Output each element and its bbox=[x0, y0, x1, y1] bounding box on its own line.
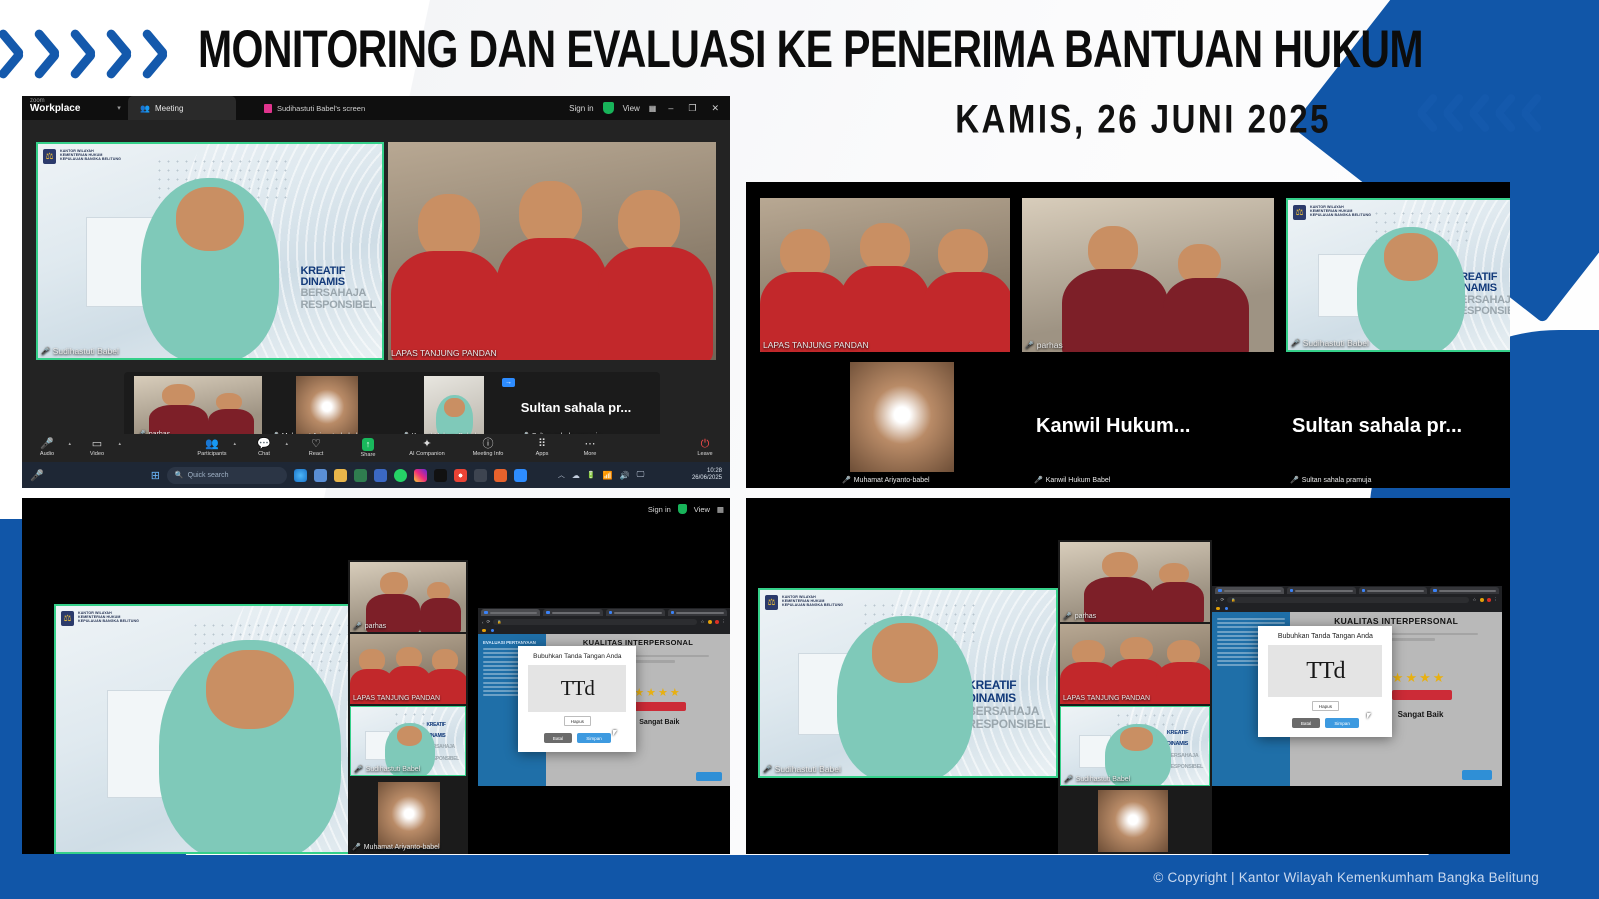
video-tile-lapas[interactable]: LAPAS TANJUNG PANDAN bbox=[760, 198, 1010, 352]
filmstrip-tile[interactable] bbox=[424, 376, 484, 440]
audio-button[interactable]: 🎤 Audio ▴ bbox=[32, 439, 62, 457]
chevron-left-icon bbox=[1407, 88, 1433, 138]
chat-bubble-icon: 💬 bbox=[257, 439, 271, 450]
lock-icon: 🔒 bbox=[497, 620, 501, 624]
chevron-left-icon bbox=[1485, 88, 1511, 138]
chat-button[interactable]: 💬 Chat ▴ bbox=[249, 439, 279, 457]
taskbar-search[interactable]: 🔍 Quick search bbox=[167, 467, 287, 484]
browser-tab[interactable] bbox=[606, 609, 665, 616]
bookmark-item[interactable] bbox=[491, 629, 495, 633]
browser-tab[interactable] bbox=[1287, 587, 1356, 594]
rating-stars[interactable]: ★ ★ ★ ★ bbox=[1392, 670, 1445, 686]
more-arrow-badge[interactable]: → bbox=[502, 378, 515, 387]
browser-bookmarks-bar bbox=[478, 627, 730, 634]
page-header: MONITORING DAN EVALUASI KE PENERIMA BANT… bbox=[0, 0, 1599, 160]
microphone-icon: 🎤 bbox=[41, 347, 50, 355]
filmstrip-tile[interactable]: LAPAS TANJUNG PANDAN bbox=[350, 634, 466, 704]
chevron-left-icon bbox=[1433, 88, 1459, 138]
video-tile-parhas[interactable]: 🎤 parhas bbox=[1022, 198, 1274, 352]
zoom-video-stage: ⚖ KANTOR WILAYAH KEMENTERIAN HUKUM KEPUL… bbox=[22, 120, 730, 434]
url-field[interactable]: 🔒 bbox=[1227, 597, 1469, 604]
video-label: 🎤 parhas bbox=[353, 622, 386, 630]
star-icon[interactable]: ★ bbox=[1433, 670, 1445, 686]
chevron-left-icon bbox=[1459, 88, 1485, 138]
video-label: LAPAS TANJUNG PANDAN bbox=[353, 695, 440, 702]
participants-button[interactable]: 👥 Participants ▴ bbox=[197, 439, 227, 457]
rating-label: Sangat Baik bbox=[639, 719, 679, 726]
chevron-up-icon[interactable]: ▴ bbox=[233, 441, 236, 447]
favicon-icon bbox=[1362, 589, 1366, 593]
page-subtitle: KAMIS, 26 JUNI 2025 bbox=[955, 96, 1331, 142]
react-button[interactable]: ♡ React bbox=[301, 439, 331, 457]
profile-icon[interactable] bbox=[708, 620, 712, 624]
camera-icon: ▭ bbox=[92, 439, 102, 450]
app-icon[interactable] bbox=[494, 469, 507, 482]
video-label: 🎤 Sudihastuti Babel bbox=[41, 346, 119, 356]
microphone-icon: 🎤 bbox=[1025, 341, 1034, 349]
instagram-icon[interactable] bbox=[414, 469, 427, 482]
excel-icon[interactable] bbox=[354, 469, 367, 482]
star-icon[interactable]: ★ bbox=[1419, 670, 1431, 686]
zoom-control-bar: 🎤 Audio ▴ ▭ Video ▴ 👥 Participants ▴ 💬 C… bbox=[22, 434, 730, 462]
browser-tab[interactable] bbox=[1430, 587, 1499, 594]
modal-title: Bubuhkan Tanda Tangan Anda bbox=[533, 653, 621, 660]
video-label: 🎤 Sudihastuti Babel bbox=[763, 764, 841, 774]
video-label: LAPAS TANJUNG PANDAN bbox=[391, 348, 497, 358]
browser-address-bar[interactable]: ‹ ⟳ 🔒 ☆ ⋮ bbox=[1212, 595, 1502, 605]
clear-signature-button[interactable]: Hapus bbox=[564, 716, 591, 726]
windows-start-icon[interactable]: ⊞ bbox=[151, 469, 160, 482]
crest-icon: ⚖ bbox=[765, 595, 778, 610]
microphone-icon: 🎤 bbox=[1063, 612, 1072, 620]
filmstrip: 🎤 parhas LAPAS TANJUNG PANDAN KREATIF DI… bbox=[1058, 540, 1212, 854]
signature-modal[interactable]: Bubuhkan Tanda Tangan Anda TTd Hapus Bat… bbox=[1258, 626, 1392, 737]
video-tile-ariyanto[interactable] bbox=[850, 362, 954, 472]
person-face bbox=[176, 187, 245, 251]
grid-icon[interactable]: ▦ bbox=[717, 505, 724, 514]
star-icon[interactable]: ★ bbox=[658, 686, 668, 699]
reload-icon[interactable]: ⟳ bbox=[1221, 597, 1225, 603]
video-tile-speaker[interactable]: ⚖ KANTOR WILAYAH KEMENTERIAN HUKUM KEPUL… bbox=[1286, 198, 1510, 352]
video-label: 🎤 Sudihastuti Babel bbox=[354, 765, 420, 773]
bookmark-item[interactable] bbox=[1225, 607, 1229, 611]
video-tile-speaker[interactable]: ⚖ KANTOR WILAYAH KEMENTERIAN HUKUM KEPUL… bbox=[758, 588, 1058, 778]
apps-button[interactable]: ⠿ Apps bbox=[527, 439, 557, 457]
browser-tab[interactable] bbox=[668, 609, 727, 616]
filmstrip-tile[interactable]: KREATIF DINAMIS BERSAHAJA RESPONSIBEL 🎤 … bbox=[350, 706, 466, 776]
favicon-icon bbox=[1433, 589, 1437, 593]
display-icon[interactable]: 🖵 bbox=[637, 470, 645, 480]
kanwil-logo: ⚖ KANTOR WILAYAH KEMENTERIAN HUKUM KEPUL… bbox=[765, 595, 843, 610]
chevron-right-icon bbox=[150, 22, 184, 86]
slogan-text: KREATIF DINAMIS BERSAHAJA RESPONSIBEL bbox=[300, 266, 376, 311]
copyright-text: © Copyright | Kantor Wilayah Kemenkumham… bbox=[1153, 870, 1539, 885]
chevron-right-group-icon bbox=[6, 22, 184, 86]
page-heading: KUALITAS INTERPERSONAL bbox=[1290, 616, 1502, 626]
video-label: LAPAS TANJUNG PANDAN bbox=[1063, 695, 1150, 702]
ellipsis-icon: ⋯ bbox=[585, 439, 596, 450]
action-button-red[interactable] bbox=[1392, 690, 1452, 700]
page-title: MONITORING DAN EVALUASI KE PENERIMA BANT… bbox=[198, 22, 1458, 77]
url-field[interactable]: 🔒 bbox=[493, 619, 697, 626]
video-label: 🎤 parhas bbox=[1063, 612, 1096, 620]
bookmark-item[interactable] bbox=[1216, 607, 1220, 611]
share-screen-icon: ↑ bbox=[362, 438, 375, 451]
star-icon[interactable]: ☆ bbox=[1472, 597, 1476, 603]
whatsapp-icon[interactable] bbox=[394, 469, 407, 482]
video-label: 🎤 Sudihastuti Babel bbox=[1064, 775, 1130, 783]
profile-icon[interactable] bbox=[1480, 598, 1484, 602]
filmstrip-tile[interactable]: 🎤 parhas bbox=[134, 376, 262, 440]
shared-page: KUALITAS INTERPERSONAL ★ ★ ★ ★ Sangat Ba… bbox=[1212, 612, 1502, 786]
rating-label: Sangat Baik bbox=[1398, 710, 1444, 719]
view-button[interactable]: View bbox=[694, 505, 710, 514]
filmstrip-tile[interactable] bbox=[296, 376, 358, 440]
video-label: 🎤 Kanwil Hukum Babel bbox=[1034, 474, 1110, 486]
chevron-up-icon[interactable]: ▴ bbox=[118, 441, 121, 447]
bookmark-item[interactable] bbox=[482, 629, 486, 633]
signature-canvas[interactable]: TTd bbox=[528, 665, 626, 712]
browser-bookmarks-bar bbox=[1212, 605, 1502, 612]
file-explorer-icon[interactable] bbox=[314, 469, 327, 482]
video-label: 🎤 Muhamat Ariyanto-babel bbox=[352, 843, 440, 851]
favicon-icon bbox=[1218, 589, 1222, 593]
microphone-icon: 🎤 bbox=[40, 439, 54, 450]
filmstrip-tile[interactable] bbox=[1098, 790, 1168, 852]
submit-button[interactable] bbox=[1462, 770, 1492, 780]
star-icon[interactable]: ★ bbox=[1392, 670, 1404, 686]
chevron-left-icon bbox=[1511, 88, 1537, 138]
video-label: 🎤 Sudihastuti Babel bbox=[1291, 338, 1369, 348]
favicon-icon bbox=[546, 611, 550, 615]
chevron-up-icon[interactable]: ︿ bbox=[558, 470, 565, 480]
favicon-icon bbox=[671, 611, 675, 615]
video-label: 🎤 Muhamat Ariyanto-babel bbox=[842, 474, 930, 486]
extension-icon[interactable] bbox=[1487, 598, 1491, 602]
shared-browser-window[interactable]: ‹ ⟳ 🔒 ☆ ⋮ EVALUASI PERTANYAAN bbox=[478, 608, 730, 786]
filmstrip-tile[interactable]: 🎤 parhas bbox=[350, 562, 466, 632]
microphone-icon: 🎤 bbox=[1290, 476, 1299, 484]
crest-icon: ⚖ bbox=[1293, 205, 1306, 220]
volume-icon[interactable]: 🔊 bbox=[620, 471, 630, 480]
chevron-up-icon[interactable]: ▴ bbox=[285, 441, 288, 447]
favicon-icon bbox=[609, 611, 613, 615]
footer-bar: © Copyright | Kantor Wilayah Kemenkumham… bbox=[0, 855, 1599, 899]
filmstrip-tile[interactable]: KREATIF DINAMIS BERSAHAJA RESPONSIBEL 🎤 … bbox=[1060, 706, 1210, 786]
windows-taskbar: 🎤 ⊞ 🔍 Quick search ︿ ☁ 🔋 📶 🔊 🖵 10:28 26/… bbox=[22, 462, 730, 488]
lock-icon: 🔒 bbox=[1231, 598, 1235, 602]
filmstrip-tile[interactable] bbox=[378, 782, 440, 848]
meeting-info-button[interactable]: ⓘ Meeting Info bbox=[467, 439, 509, 457]
mouse-cursor-icon bbox=[613, 730, 620, 736]
microphone-icon: 🎤 bbox=[353, 622, 362, 630]
slogan-text: KREATIF DINAMIS BERSAHAJA RESPONSIBEL bbox=[1167, 726, 1203, 771]
video-button[interactable]: ▭ Video ▴ bbox=[82, 439, 112, 457]
heart-icon: ♡ bbox=[311, 439, 321, 450]
back-icon[interactable]: ‹ bbox=[482, 620, 484, 625]
browser-tab[interactable] bbox=[543, 609, 602, 616]
sign-in-link[interactable]: Sign in bbox=[648, 505, 671, 514]
cancel-button[interactable]: Batal bbox=[544, 733, 572, 743]
filmstrip-tile[interactable]: LAPAS TANJUNG PANDAN bbox=[1060, 624, 1210, 704]
cancel-button[interactable]: Batal bbox=[1292, 718, 1320, 728]
video-tile-lapas[interactable]: LAPAS TANJUNG PANDAN bbox=[388, 142, 716, 360]
filmstrip: 🎤 parhas LAPAS TANJUNG PANDAN KREATIF DI… bbox=[348, 560, 468, 854]
video-label: 🎤 Sultan sahala pramuja bbox=[1290, 474, 1371, 486]
battery-icon[interactable]: 🔋 bbox=[587, 471, 596, 479]
shared-page: EVALUASI PERTANYAAN KUALITAS INTERPERSON… bbox=[478, 634, 730, 786]
favicon-icon bbox=[1290, 589, 1294, 593]
exit-icon: ⏻ bbox=[701, 439, 710, 450]
settings-icon[interactable] bbox=[474, 469, 487, 482]
modal-title: Bubuhkan Tanda Tangan Anda bbox=[1278, 633, 1373, 640]
zoom-taskbar-icon[interactable]: 🎤 bbox=[30, 469, 44, 482]
browser-tab[interactable] bbox=[1215, 587, 1284, 594]
microphone-icon: 🎤 bbox=[1064, 775, 1073, 783]
star-icon[interactable]: ★ bbox=[670, 686, 680, 699]
clear-signature-button[interactable]: Hapus bbox=[1312, 701, 1339, 711]
video-label: 🎤 parhas bbox=[1025, 340, 1063, 350]
sidebar-title: EVALUASI PERTANYAAN bbox=[483, 640, 541, 645]
microphone-icon: 🎤 bbox=[354, 765, 363, 773]
info-icon: ⓘ bbox=[483, 439, 494, 450]
more-button[interactable]: ⋯ More bbox=[575, 439, 605, 457]
rating-stars[interactable]: ★ ★ ★ ★ bbox=[634, 686, 680, 699]
participant-name-placeholder: Sultan sahala pr... bbox=[1292, 378, 1510, 474]
menu-icon[interactable]: ⋮ bbox=[1494, 597, 1499, 603]
star-icon[interactable]: ☆ bbox=[700, 619, 704, 625]
tiktok-icon[interactable] bbox=[434, 469, 447, 482]
signature-modal[interactable]: Bubuhkan Tanda Tangan Anda TTd Hapus Bat… bbox=[518, 646, 636, 752]
taskbar-clock[interactable]: 10:28 26/06/2025 bbox=[692, 468, 722, 482]
browser-tab[interactable] bbox=[481, 609, 540, 616]
browser-address-bar[interactable]: ‹ ⟳ 🔒 ☆ ⋮ bbox=[478, 617, 730, 627]
browser-tab-strip bbox=[478, 608, 730, 617]
microphone-icon: 🎤 bbox=[1034, 476, 1043, 484]
star-icon[interactable]: ★ bbox=[1405, 670, 1417, 686]
chevron-up-icon[interactable]: ▴ bbox=[68, 441, 71, 447]
favicon-icon bbox=[484, 611, 488, 615]
participant-name-placeholder: Kanwil Hukum... bbox=[1036, 378, 1276, 474]
screenshot-screenshare-2: ⚖ KANTOR WILAYAH KEMENTERIAN HUKUM KEPUL… bbox=[746, 498, 1510, 854]
slogan-text: KREATIF DINAMIS BERSAHAJA RESPONSIBEL bbox=[967, 679, 1050, 732]
signature-canvas[interactable]: TTd bbox=[1268, 645, 1382, 697]
mouse-cursor-icon bbox=[1367, 713, 1374, 719]
star-icon[interactable]: ★ bbox=[646, 686, 656, 699]
save-button[interactable]: Simpan bbox=[1325, 718, 1359, 728]
browser-tab[interactable] bbox=[1359, 587, 1428, 594]
reload-icon[interactable]: ⟳ bbox=[487, 619, 491, 625]
back-icon[interactable]: ‹ bbox=[1216, 598, 1218, 603]
folder-icon[interactable] bbox=[334, 469, 347, 482]
kanwil-logo: ⚖ KANTOR WILAYAH KEMENTERIAN HUKUM KEPUL… bbox=[61, 611, 139, 626]
video-tile-speaker[interactable]: ⚖ KANTOR WILAYAH KEMENTERIAN HUKUM KEPUL… bbox=[36, 142, 384, 360]
word-icon[interactable] bbox=[374, 469, 387, 482]
submit-button[interactable] bbox=[696, 772, 722, 781]
leave-button[interactable]: ⏻ Leave bbox=[690, 439, 720, 457]
save-button[interactable]: Simpan bbox=[577, 733, 611, 743]
kanwil-logo: ⚖ KANTOR WILAYAH KEMENTERIAN HUKUM KEPUL… bbox=[1293, 205, 1371, 220]
chevron-left-group-icon bbox=[1407, 88, 1537, 138]
edge-icon[interactable] bbox=[294, 469, 307, 482]
screenshot-screenshare-1: Sign in View ▦ ⚖ KANTOR WILAYAH KEMENTER… bbox=[22, 498, 730, 854]
participant-name-placeholder: Sultan sahala pr... bbox=[500, 394, 652, 420]
microphone-icon: 🎤 bbox=[1291, 339, 1300, 347]
screenshot-zoom-gallery: LAPAS TANJUNG PANDAN 🎤 parhas ⚖ KANTOR W… bbox=[746, 182, 1510, 488]
extension-icon[interactable] bbox=[715, 620, 719, 624]
share-screen-button[interactable]: ↑ Share bbox=[353, 438, 383, 458]
wifi-icon[interactable]: 📶 bbox=[603, 471, 613, 480]
search-icon: 🔍 bbox=[175, 471, 184, 479]
cloud-icon[interactable]: ☁ bbox=[572, 471, 580, 480]
shield-icon bbox=[678, 504, 687, 514]
action-button-red[interactable] bbox=[634, 702, 686, 711]
filmstrip-tile[interactable]: 🎤 parhas bbox=[1060, 542, 1210, 622]
microphone-icon: 🎤 bbox=[352, 843, 361, 851]
apps-icon: ⠿ bbox=[538, 439, 546, 450]
sparkle-icon: ✦ bbox=[422, 439, 431, 450]
microphone-icon: 🎤 bbox=[842, 476, 851, 484]
chrome-icon[interactable] bbox=[454, 469, 467, 482]
microphone-icon: 🎤 bbox=[763, 765, 772, 773]
video-label: LAPAS TANJUNG PANDAN bbox=[763, 340, 869, 350]
menu-icon[interactable]: ⋮ bbox=[722, 619, 727, 625]
zoom-icon[interactable] bbox=[514, 469, 527, 482]
shared-browser-window[interactable]: ‹ ⟳ 🔒 ☆ ⋮ KUALITAS INTERPERSONAL bbox=[1212, 586, 1502, 786]
crest-icon: ⚖ bbox=[61, 611, 74, 626]
ai-companion-button[interactable]: ✦ AI Companion bbox=[405, 439, 449, 457]
zoom-signin-row: Sign in View ▦ bbox=[648, 504, 724, 514]
browser-tab-strip bbox=[1212, 586, 1502, 595]
people-icon: 👥 bbox=[205, 439, 219, 450]
